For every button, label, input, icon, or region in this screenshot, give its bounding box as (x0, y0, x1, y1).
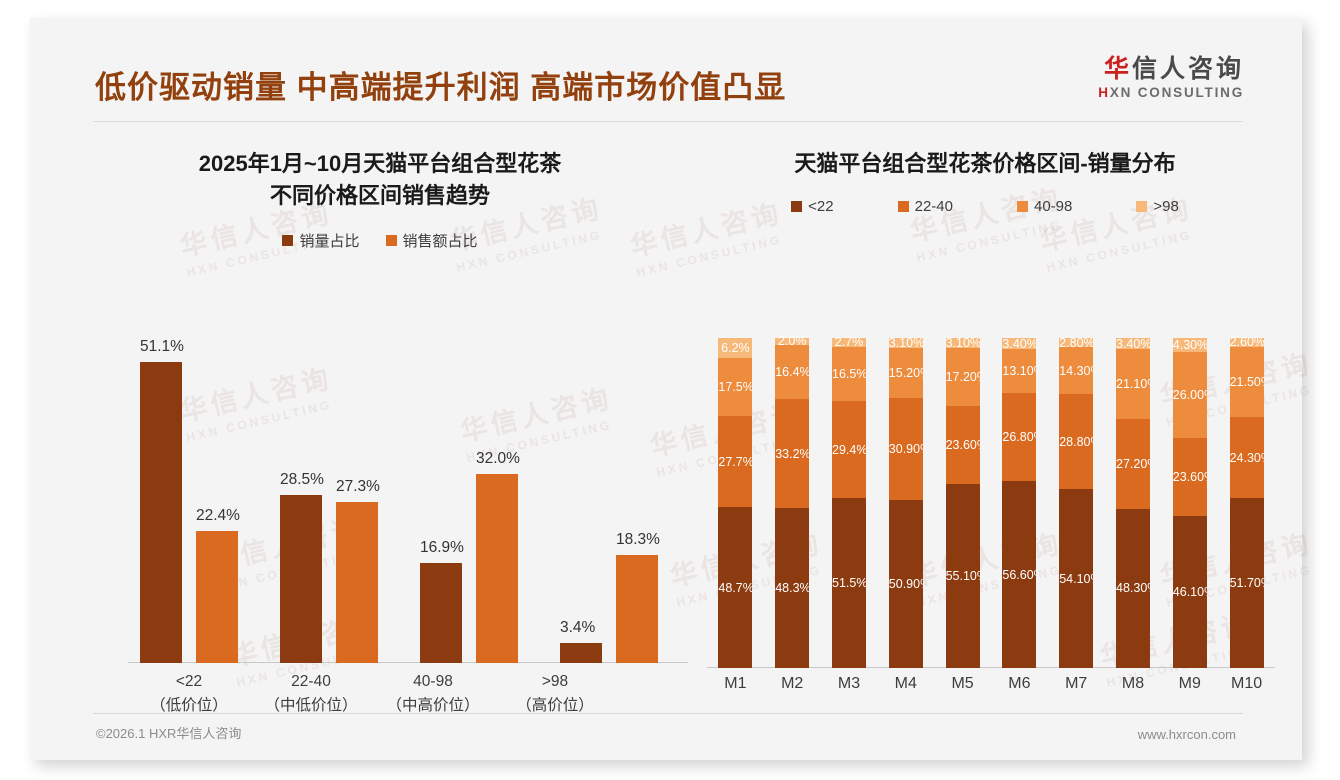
right-chart-legend-item[interactable]: 22-40 (898, 198, 953, 215)
bar-column[interactable]: 16.9% (420, 333, 462, 663)
stacked-bar-column[interactable]: 3.10%15.20%30.90%50.90% (889, 296, 923, 668)
category-label-sub: （中高价位） (372, 694, 494, 718)
stacked-bar-column[interactable]: 3.40%21.10%27.20%48.30% (1116, 296, 1150, 668)
stacked-bar-segment[interactable]: 54.10% (1059, 489, 1093, 668)
segment-value-label: 51.5% (832, 576, 866, 590)
left-chart-legend-item[interactable]: 销量占比 (282, 230, 359, 251)
month-label: M3 (821, 675, 878, 693)
logo-chinese: 华信人咨询 (1098, 56, 1244, 82)
slide-card: 低价驱动销量 中高端提升利润 高端市场价值凸显 华信人咨询 HXN CONSUL… (30, 18, 1302, 760)
segment-value-label: 30.90% (889, 442, 923, 456)
segment-value-label: 46.10% (1173, 585, 1207, 599)
bar[interactable] (336, 502, 378, 663)
stacked-bar-segment[interactable]: 21.10% (1116, 349, 1150, 419)
bar-value-label: 51.1% (140, 338, 184, 356)
segment-value-label: 21.50% (1230, 375, 1264, 389)
stacked-bar-segment[interactable]: 3.40% (1116, 338, 1150, 349)
month-label: M7 (1048, 675, 1105, 693)
segment-value-label: 17.5% (718, 380, 752, 394)
left-chart-plot: 51.1%22.4%28.5%27.3%16.9%32.0%3.4%18.3% (128, 333, 688, 663)
right-chart-legend-label: 40-98 (1034, 198, 1072, 215)
stacked-bar-segment[interactable]: 23.60% (1173, 438, 1207, 516)
segment-value-label: 55.10% (946, 569, 980, 583)
bar-group: 51.1%22.4% (128, 333, 250, 663)
stacked-bar-segment[interactable]: 48.30% (1116, 509, 1150, 668)
category-label: 22-40（中低价位） (250, 670, 372, 718)
stacked-bar-segment[interactable]: 46.10% (1173, 516, 1207, 668)
stacked-bar-segment[interactable]: 4.30% (1173, 338, 1207, 352)
right-chart-legend: <2222-4040-98>98 (685, 198, 1285, 215)
bar-column[interactable]: 28.5% (280, 333, 322, 663)
right-chart-panel: 天猫平台组合型花茶价格区间-销量分布 <2222-4040-98>98 6.2%… (685, 148, 1285, 708)
segment-value-label: 6.2% (721, 341, 750, 355)
stacked-bar-segment[interactable]: 2.7% (832, 338, 866, 347)
bar-column[interactable]: 22.4% (196, 333, 238, 663)
page-title: 低价驱动销量 中高端提升利润 高端市场价值凸显 (95, 62, 786, 107)
logo-chinese-accent: 华 (1104, 55, 1132, 83)
month-label: M4 (877, 675, 934, 693)
month-label: M9 (1161, 675, 1218, 693)
month-label: M5 (934, 675, 991, 693)
legend-swatch-icon (1136, 201, 1147, 212)
stacked-bar-column[interactable]: 6.2%17.5%27.7%48.7% (718, 296, 752, 668)
month-label: M2 (764, 675, 821, 693)
stacked-bar-segment[interactable]: 2.0% (775, 338, 809, 345)
stacked-bar-segment[interactable]: 55.10% (946, 484, 980, 668)
right-chart-plot: 6.2%17.5%27.7%48.7%2.0%16.4%33.2%48.3%2.… (707, 296, 1275, 668)
bar-column[interactable]: 18.3% (616, 333, 658, 663)
stacked-bar-segment[interactable]: 51.70% (1230, 498, 1264, 668)
segment-value-label: 28.80% (1059, 435, 1093, 449)
segment-value-label: 15.20% (889, 366, 923, 380)
right-chart-legend-label: 22-40 (915, 198, 953, 215)
category-label-main: >98 (494, 670, 616, 694)
bar[interactable] (196, 531, 238, 663)
stacked-bar-column[interactable]: 3.10%17.20%23.60%55.10% (946, 296, 980, 668)
bar-group: 3.4%18.3% (548, 333, 670, 663)
stacked-bar-segment[interactable]: 29.4% (832, 401, 866, 498)
stacked-bar-segment[interactable]: 23.60% (946, 406, 980, 485)
segment-value-label: 54.10% (1059, 572, 1093, 586)
header-divider (93, 121, 1243, 122)
segment-value-label: 23.60% (946, 438, 980, 452)
logo-english: HXN CONSULTING (1098, 85, 1244, 100)
category-label-sub: （高价位） (494, 694, 616, 718)
slide-root: 低价驱动销量 中高端提升利润 高端市场价值凸显 华信人咨询 HXN CONSUL… (0, 0, 1340, 780)
segment-value-label: 16.4% (775, 365, 809, 379)
bar-column[interactable]: 32.0% (476, 333, 518, 663)
legend-swatch-icon (282, 235, 293, 246)
stacked-bar-segment[interactable]: 27.20% (1116, 419, 1150, 509)
stacked-bar-segment[interactable]: 3.10% (889, 338, 923, 348)
segment-value-label: 26.00% (1173, 388, 1207, 402)
stacked-bar-column[interactable]: 2.7%16.5%29.4%51.5% (832, 296, 866, 668)
stacked-bar-segment[interactable]: 17.20% (946, 348, 980, 405)
segment-value-label: 48.7% (718, 581, 752, 595)
stacked-bar-segment[interactable]: 30.90% (889, 398, 923, 500)
stacked-bar-column[interactable]: 2.80%14.30%28.80%54.10% (1059, 296, 1093, 668)
month-label: M1 (707, 675, 764, 693)
stacked-bar-segment[interactable]: 26.00% (1173, 352, 1207, 438)
right-chart-title: 天猫平台组合型花茶价格区间-销量分布 (685, 148, 1285, 180)
segment-value-label: 21.10% (1116, 377, 1150, 391)
stacked-bar-segment[interactable]: 27.7% (718, 416, 752, 507)
segment-value-label: 48.30% (1116, 581, 1150, 595)
stacked-bar-column[interactable]: 3.40%13.10%26.80%56.60% (1002, 296, 1036, 668)
month-label: M6 (991, 675, 1048, 693)
footer-website: www.hxrcon.com (1138, 727, 1236, 742)
segment-value-label: 51.70% (1230, 576, 1264, 590)
stacked-bar-segment[interactable]: 48.3% (775, 508, 809, 668)
legend-swatch-icon (791, 201, 802, 212)
month-label: M8 (1105, 675, 1162, 693)
right-chart-legend-label: >98 (1153, 198, 1178, 215)
segment-value-label: 17.20% (946, 370, 980, 384)
left-chart-title-line1: 2025年1月~10月天猫平台组合型花茶 (70, 148, 690, 180)
stacked-bar-segment[interactable]: 48.7% (718, 507, 752, 668)
bar[interactable] (476, 474, 518, 663)
brand-logo: 华信人咨询 HXN CONSULTING (1098, 56, 1244, 100)
category-label-main: 22-40 (250, 670, 372, 694)
bar[interactable] (560, 643, 602, 663)
category-label: >98（高价位） (494, 670, 616, 718)
stacked-bar-segment[interactable]: 51.5% (832, 498, 866, 668)
left-chart-legend: 销量占比销售额占比 (70, 230, 690, 251)
stacked-bar-segment[interactable]: 24.30% (1230, 417, 1264, 497)
right-chart-legend-label: <22 (808, 198, 833, 215)
category-label-sub: （低价位） (128, 694, 250, 718)
right-chart-category-labels: M1M2M3M4M5M6M7M8M9M10 (707, 675, 1275, 693)
footer-copyright: ©2026.1 HXR华信人咨询 (96, 723, 241, 742)
stacked-bar-segment[interactable]: 15.20% (889, 348, 923, 398)
left-chart-legend-label: 销售额占比 (403, 230, 478, 251)
left-chart-title-line2: 不同价格区间销售趋势 (70, 180, 690, 212)
segment-value-label: 27.20% (1116, 457, 1150, 471)
left-chart-legend-label: 销量占比 (299, 230, 359, 251)
bar[interactable] (280, 495, 322, 663)
stacked-bar-segment[interactable]: 6.2% (718, 338, 752, 358)
bar-value-label: 27.3% (336, 478, 380, 496)
category-label: <22（低价位） (128, 670, 250, 718)
footer-divider (93, 713, 1243, 714)
right-chart-legend-item[interactable]: >98 (1136, 198, 1178, 215)
right-chart-legend-item[interactable]: <22 (791, 198, 833, 215)
bar-value-label: 32.0% (476, 450, 520, 468)
legend-swatch-icon (1017, 201, 1028, 212)
logo-english-rest: XN CONSULTING (1110, 85, 1244, 100)
stacked-bar-segment[interactable]: 3.10% (946, 338, 980, 348)
category-label-main: 40-98 (372, 670, 494, 694)
left-chart-panel: 2025年1月~10月天猫平台组合型花茶 不同价格区间销售趋势 销量占比销售额占… (70, 148, 690, 708)
category-label-sub: （中低价位） (250, 694, 372, 718)
bar-column[interactable]: 27.3% (336, 333, 378, 663)
segment-value-label: 48.3% (775, 581, 809, 595)
bar-value-label: 18.3% (616, 531, 660, 549)
stacked-bar-segment[interactable]: 33.2% (775, 399, 809, 509)
bar-group: 16.9%32.0% (408, 333, 530, 663)
segment-value-label: 27.7% (718, 455, 752, 469)
stacked-bar-segment[interactable]: 50.90% (889, 500, 923, 668)
slide-header: 低价驱动销量 中高端提升利润 高端市场价值凸显 华信人咨询 HXN CONSUL… (30, 18, 1302, 110)
bar[interactable] (140, 362, 182, 663)
left-chart-title: 2025年1月~10月天猫平台组合型花茶 不同价格区间销售趋势 (70, 148, 690, 212)
segment-value-label: 33.2% (775, 447, 809, 461)
segment-value-label: 14.30% (1059, 364, 1093, 378)
segment-value-label: 4.30% (1173, 338, 1207, 352)
month-label: M10 (1218, 675, 1275, 693)
bar-column[interactable]: 51.1% (140, 333, 182, 663)
stacked-bar-column[interactable]: 2.0%16.4%33.2%48.3% (775, 296, 809, 668)
stacked-bar-segment[interactable]: 14.30% (1059, 347, 1093, 394)
segment-value-label: 56.60% (1002, 568, 1036, 582)
legend-swatch-icon (386, 235, 397, 246)
logo-chinese-rest: 信人咨询 (1132, 55, 1244, 83)
logo-english-accent: H (1098, 85, 1110, 100)
stacked-bar-segment[interactable]: 2.60% (1230, 338, 1264, 347)
stacked-bar-column[interactable]: 4.30%26.00%23.60%46.10% (1173, 296, 1207, 668)
stacked-bar-segment[interactable]: 2.80% (1059, 338, 1093, 347)
left-chart-category-labels: <22（低价位）22-40（中低价位）40-98（中高价位）>98（高价位） (128, 670, 688, 718)
bar[interactable] (420, 563, 462, 663)
bar-column[interactable]: 3.4% (560, 333, 602, 663)
stacked-bar-segment[interactable]: 16.5% (832, 347, 866, 401)
segment-value-label: 29.4% (832, 443, 866, 457)
stacked-bar-segment[interactable]: 13.10% (1002, 349, 1036, 392)
segment-value-label: 50.90% (889, 577, 923, 591)
segment-value-label: 24.30% (1230, 451, 1264, 465)
stacked-bar-segment[interactable]: 17.5% (718, 358, 752, 416)
stacked-bar-segment[interactable]: 21.50% (1230, 347, 1264, 418)
segment-value-label: 23.60% (1173, 470, 1207, 484)
legend-swatch-icon (898, 201, 909, 212)
bar[interactable] (616, 555, 658, 663)
stacked-bar-segment[interactable]: 56.60% (1002, 481, 1036, 668)
bar-value-label: 3.4% (560, 619, 595, 637)
category-label: 40-98（中高价位） (372, 670, 494, 718)
left-chart-legend-item[interactable]: 销售额占比 (386, 230, 478, 251)
segment-value-label: 16.5% (832, 367, 866, 381)
stacked-bar-segment[interactable]: 3.40% (1002, 338, 1036, 349)
stacked-bar-segment[interactable]: 26.80% (1002, 393, 1036, 482)
right-chart-legend-item[interactable]: 40-98 (1017, 198, 1072, 215)
segment-value-label: 13.10% (1002, 364, 1036, 378)
bar-value-label: 28.5% (280, 471, 324, 489)
bar-value-label: 22.4% (196, 507, 240, 525)
stacked-bar-column[interactable]: 2.60%21.50%24.30%51.70% (1230, 296, 1264, 668)
segment-value-label: 26.80% (1002, 430, 1036, 444)
bar-value-label: 16.9% (420, 539, 464, 557)
bar-group: 28.5%27.3% (268, 333, 390, 663)
category-label-main: <22 (128, 670, 250, 694)
stacked-bar-segment[interactable]: 28.80% (1059, 394, 1093, 489)
stacked-bar-segment[interactable]: 16.4% (775, 345, 809, 399)
